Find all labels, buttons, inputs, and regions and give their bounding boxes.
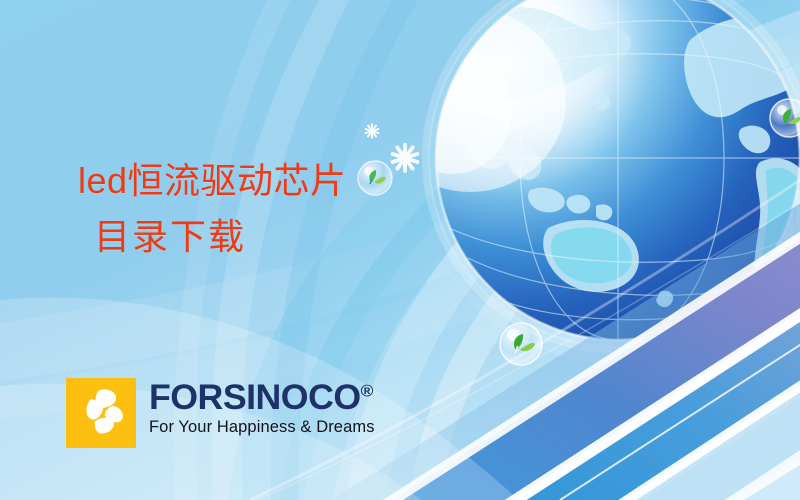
banner-canvas: led恒流驱动芯片 目录下载 FORSINOCO® For Your Happi… <box>0 0 800 500</box>
four-petal-pinwheel-icon <box>66 378 136 448</box>
banner-headline: led恒流驱动芯片 目录下载 <box>78 160 478 259</box>
brand-text: FORSINOCO® For Your Happiness & Dreams <box>149 378 375 436</box>
brand-tagline: For Your Happiness & Dreams <box>149 418 375 436</box>
brand-logo[interactable]: FORSINOCO® For Your Happiness & Dreams <box>66 378 375 448</box>
registered-trademark-icon: ® <box>361 381 374 400</box>
brand-name: FORSINOCO <box>149 378 361 417</box>
brand-wordmark: FORSINOCO® <box>149 380 379 415</box>
headline-line-2: 目录下载 <box>94 216 478 258</box>
headline-line-1: led恒流驱动芯片 <box>78 160 478 202</box>
